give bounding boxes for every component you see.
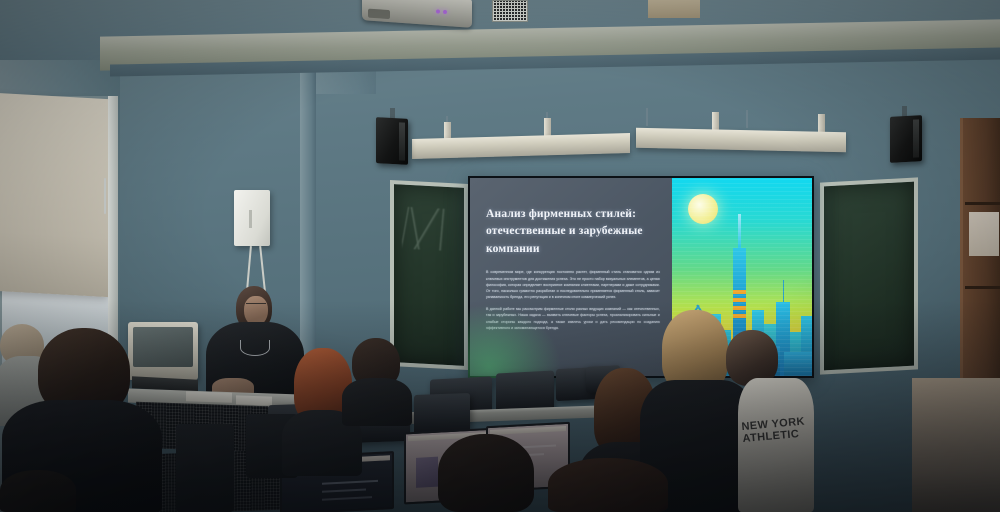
projector-lens-icon bbox=[368, 9, 390, 20]
tower-band bbox=[733, 314, 746, 318]
moon-icon bbox=[688, 194, 718, 224]
necklace-icon bbox=[240, 340, 270, 356]
slide-text-column: Анализ фирменных стилей: отечественные и… bbox=[470, 178, 672, 376]
cabinet-shelf bbox=[965, 202, 1000, 205]
teacher-monitor[interactable] bbox=[128, 322, 198, 380]
wall-pilaster-a bbox=[300, 40, 316, 380]
ceiling-vent bbox=[492, 0, 528, 22]
student-head bbox=[438, 434, 534, 512]
antenna-icon bbox=[783, 280, 785, 302]
projector-led-icon bbox=[436, 9, 440, 13]
cabinet-shelf bbox=[965, 286, 1000, 289]
slide-title: Анализ фирменных стилей: отечественные и… bbox=[486, 206, 660, 258]
building bbox=[784, 352, 812, 376]
ceiling-panel-right bbox=[648, 0, 700, 18]
monitor-thumbnail bbox=[416, 457, 438, 488]
wall-speaker-right bbox=[890, 115, 922, 163]
wall-speaker-left bbox=[376, 117, 408, 165]
valance-stem bbox=[746, 110, 748, 128]
blind-cord[interactable] bbox=[104, 178, 106, 214]
slide-body: В современном мире, где конкуренция пост… bbox=[486, 269, 660, 331]
chalk-writing bbox=[402, 207, 466, 252]
tower-band bbox=[733, 298, 746, 302]
tower-band bbox=[733, 306, 746, 310]
projector-led-icon bbox=[443, 10, 447, 14]
low-cabinet bbox=[912, 378, 1000, 512]
tower-band bbox=[733, 290, 746, 294]
teacher-monitor-screen bbox=[133, 327, 193, 367]
wooden-cabinet[interactable] bbox=[960, 118, 1000, 378]
valance-stem bbox=[646, 108, 648, 126]
student-head bbox=[0, 470, 76, 512]
slide-paragraph: В данной работе мы рассмотрим фирменные … bbox=[486, 306, 660, 331]
slide-paragraph: В современном мире, где конкуренция пост… bbox=[486, 269, 660, 300]
glasses-icon bbox=[246, 303, 266, 307]
wall-mounted-control-box[interactable] bbox=[234, 190, 270, 246]
cabinet-poster bbox=[969, 212, 999, 256]
student-head bbox=[548, 458, 668, 512]
green-chalkboard-right bbox=[820, 177, 918, 374]
student-torso bbox=[342, 378, 412, 426]
paper-sheet bbox=[186, 391, 232, 403]
green-chalkboard-left bbox=[390, 180, 468, 370]
chair[interactable] bbox=[176, 424, 234, 512]
classroom-scene: Анализ фирменных стилей: отечественные и… bbox=[0, 0, 1000, 512]
paper-sheet bbox=[236, 395, 272, 405]
roller-blind[interactable] bbox=[0, 93, 108, 297]
